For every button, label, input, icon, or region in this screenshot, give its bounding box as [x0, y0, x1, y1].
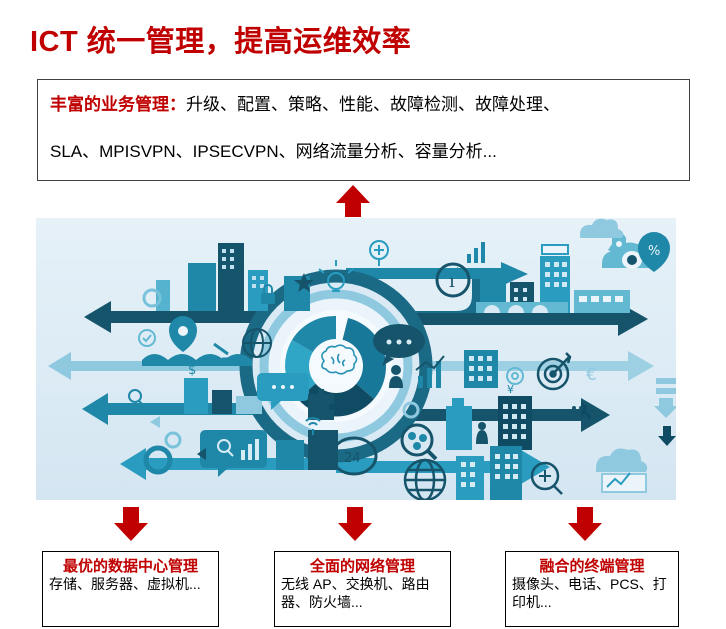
- down-arrow-icon-2: [338, 523, 372, 541]
- terminal-box-desc: 摄像头、电话、PCS、打印机...: [506, 575, 678, 611]
- warehouse-icon: [574, 290, 630, 313]
- down-arrow-stem-2: [347, 507, 363, 523]
- ict-infographic: $: [36, 218, 676, 500]
- infographic-svg: $: [36, 218, 676, 500]
- network-box-desc: 无线 AP、交换机、路由器、防火墙...: [275, 575, 450, 611]
- dollar-icon: $: [188, 363, 196, 378]
- datacenter-management-box: 最优的数据中心管理 存储、服务器、虚拟机...: [42, 551, 219, 627]
- down-arrow-icon-3: [568, 523, 602, 541]
- top-box-lead-label: 丰富的业务管理：: [50, 95, 186, 114]
- bridge-icon: [476, 302, 568, 313]
- svg-text:¥: ¥: [507, 383, 514, 396]
- up-arrow-stem: [345, 202, 361, 217]
- terminal-box-title: 融合的终端管理: [506, 558, 678, 575]
- business-management-box: 丰富的业务管理：升级、配置、策略、性能、故障检测、故障处理、 SLA、MPISV…: [37, 79, 690, 181]
- euro-icon: €: [586, 365, 597, 385]
- svg-text:%: %: [648, 244, 660, 259]
- top-box-line-1-rest: 升级、配置、策略、性能、故障检测、故障处理、: [186, 95, 560, 114]
- down-arrow-stem-1: [123, 507, 139, 523]
- up-arrow-icon: [336, 185, 370, 203]
- terminal-management-box: 融合的终端管理 摄像头、电话、PCS、打印机...: [505, 551, 679, 627]
- svg-text:24: 24: [344, 451, 361, 466]
- datacenter-box-desc: 存储、服务器、虚拟机...: [43, 575, 218, 594]
- datacenter-box-title: 最优的数据中心管理: [43, 558, 218, 575]
- network-box-title: 全面的网络管理: [275, 558, 450, 575]
- top-box-line-1: 丰富的业务管理：升级、配置、策略、性能、故障检测、故障处理、: [50, 96, 675, 113]
- network-management-box: 全面的网络管理 无线 AP、交换机、路由器、防火墙...: [274, 551, 451, 627]
- svg-text:$: $: [188, 363, 196, 378]
- right-building-mid: [464, 350, 498, 388]
- top-box-line-2: SLA、MPISVPN、IPSECVPN、网络流量分析、容量分析...: [50, 143, 675, 160]
- down-arrow-icon-1: [114, 523, 148, 541]
- page-title: ICT 统一管理，提高运维效率: [30, 18, 411, 60]
- down-arrow-stem-3: [577, 507, 593, 523]
- slide-root: ICT 统一管理，提高运维效率 丰富的业务管理：升级、配置、策略、性能、故障检测…: [0, 0, 726, 629]
